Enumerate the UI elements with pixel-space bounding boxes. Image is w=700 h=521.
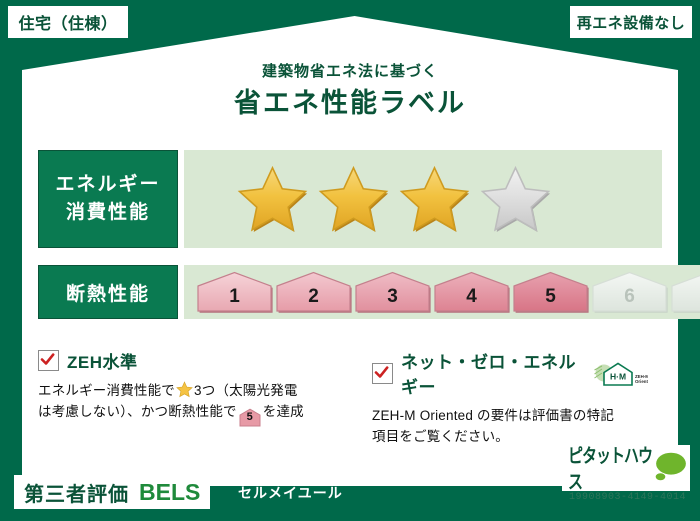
- note-nzeb-line2: 項目をご覧ください。: [372, 429, 509, 444]
- zeh-m-logo-sub2: Oriented: [635, 379, 648, 384]
- note-zeh-text-4: を達成: [263, 404, 304, 419]
- bels-badge: 第三者評価 BELS: [14, 475, 210, 509]
- insulation-level-scale: 1234567: [184, 270, 700, 314]
- zeh-checkbox: [38, 350, 59, 371]
- row-energy-label: エネルギー 消費性能: [38, 150, 178, 248]
- house-icon: [670, 270, 700, 314]
- star-icon-filled: [236, 164, 309, 234]
- insulation-level-7: 7: [670, 270, 700, 314]
- label-title-block: 建築物省エネ法に基づく 省エネ性能ラベル: [0, 62, 700, 120]
- check-icon: [374, 365, 389, 380]
- zeh-m-oriented-logo: H·M ZEH-M Oriented: [592, 358, 648, 388]
- note-zeh-body: エネルギー消費性能で3つ（太陽光発電 は考慮しない）、かつ断熱性能で5を達成: [38, 380, 336, 425]
- row-energy-label-line2: 消費性能: [66, 199, 150, 227]
- note-nzeb-line1: ZEH-M Oriented の要件は評価書の特記: [372, 408, 614, 423]
- insulation-level-2: 2: [275, 270, 352, 314]
- insulation-level-inline-number: 5: [239, 408, 261, 427]
- insulation-level-5: 5: [512, 270, 589, 314]
- bels-en-label: BELS: [139, 479, 200, 506]
- insulation-level-number: 6: [624, 286, 635, 314]
- note-zeh-text-2: 3つ（太陽光発電: [194, 383, 298, 398]
- speech-bubble-icon: [650, 448, 690, 488]
- insulation-level-number: 4: [466, 286, 477, 314]
- insulation-level-number: 5: [545, 286, 556, 314]
- row-insulation-panel: 1234567: [184, 265, 700, 319]
- check-icon: [40, 352, 55, 367]
- note-zeh: ZEH水準 エネルギー消費性能で3つ（太陽光発電 は考慮しない）、かつ断熱性能で…: [38, 348, 350, 434]
- insulation-level-number: 2: [308, 286, 319, 314]
- insulation-level-number: 1: [229, 286, 240, 314]
- note-nzeb-body: ZEH-M Oriented の要件は評価書の特記 項目をご覧ください。: [372, 405, 648, 447]
- brand-logo: ピタットハウス: [562, 445, 690, 491]
- star-rating: [184, 164, 552, 234]
- page-title: 省エネ性能ラベル: [0, 86, 700, 120]
- brand-logo-text: ピタットハウス: [568, 442, 654, 495]
- tag-renewable-equipment: 再エネ設備なし: [570, 6, 692, 38]
- zeh-m-logo-text: H·M: [610, 372, 626, 382]
- zeh-m-house-icon: H·M ZEH-M Oriented: [592, 358, 648, 388]
- note-zeh-text-1: エネルギー消費性能で: [38, 383, 175, 398]
- bels-jp-label: 第三者評価: [24, 478, 129, 507]
- star-icon-inline: [176, 381, 193, 398]
- insulation-level-6: 6: [591, 270, 668, 314]
- note-nzeb-header: ネット・ゼロ・エネルギー H·M ZEH-M Oriented: [372, 348, 648, 398]
- row-energy-panel: [184, 150, 662, 248]
- watermark-id: 19908903-4149-4014: [569, 492, 686, 503]
- note-zeh-text-3: は考慮しない）、かつ断熱性能で: [38, 404, 237, 419]
- note-nzeb-title: ネット・ゼロ・エネルギー: [401, 348, 580, 398]
- star-icon-empty: [479, 164, 552, 234]
- insulation-level-4: 4: [433, 270, 510, 314]
- energy-performance-label: 住宅（住棟） 再エネ設備なし 建築物省エネ法に基づく 省エネ性能ラベル エネルギ…: [0, 0, 700, 521]
- nzeb-checkbox: [372, 363, 393, 384]
- insulation-level-1: 1: [196, 270, 273, 314]
- note-zeh-header: ZEH水準: [38, 348, 336, 373]
- row-insulation-label: 断熱性能: [38, 265, 178, 319]
- note-nzeb: ネット・ゼロ・エネルギー H·M ZEH-M Oriented ZEH-M Or…: [350, 348, 662, 434]
- row-energy-label-line1: エネルギー: [55, 171, 160, 199]
- row-insulation-performance: 断熱性能 1234567: [38, 265, 662, 319]
- label-footer: 第三者評価 BELS セルメイユール ピタットハウス 19908903-4149…: [0, 469, 700, 521]
- tag-building-type: 住宅（住棟）: [8, 6, 128, 38]
- notes-section: ZEH水準 エネルギー消費性能で3つ（太陽光発電 は考慮しない）、かつ断熱性能で…: [38, 348, 662, 434]
- property-name: セルメイユール: [238, 483, 343, 503]
- row-energy-performance: エネルギー 消費性能: [38, 150, 662, 248]
- insulation-level-inline: 5: [239, 408, 261, 425]
- star-icon-filled: [398, 164, 471, 234]
- insulation-level-number: 3: [387, 286, 398, 314]
- note-zeh-title: ZEH水準: [67, 348, 138, 373]
- insulation-level-3: 3: [354, 270, 431, 314]
- title-subtitle: 建築物省エネ法に基づく: [0, 62, 700, 82]
- star-icon-filled: [317, 164, 390, 234]
